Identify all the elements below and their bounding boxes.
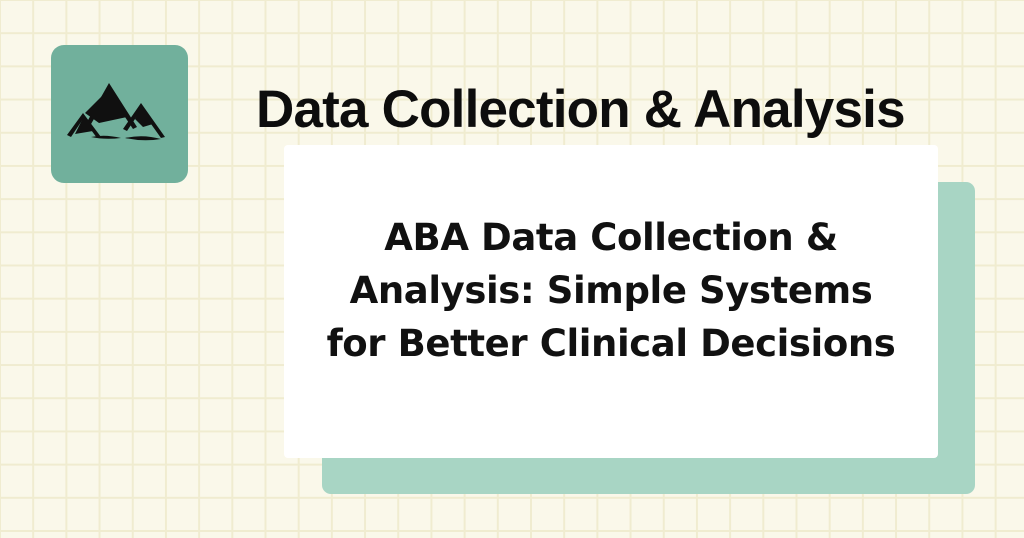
- card-heading-line: Analysis: Simple Systems: [310, 264, 912, 317]
- slide-canvas: Data Collection & Analysis ABA Data Coll…: [0, 0, 1024, 538]
- card-heading-line: for Better Clinical Decisions: [310, 317, 912, 370]
- content-card: ABA Data Collection & Analysis: Simple S…: [284, 145, 938, 458]
- logo-badge: [51, 45, 188, 183]
- page-title: Data Collection & Analysis: [256, 82, 905, 138]
- card-heading-line: ABA Data Collection &: [310, 211, 912, 264]
- card-heading: ABA Data Collection & Analysis: Simple S…: [310, 211, 912, 370]
